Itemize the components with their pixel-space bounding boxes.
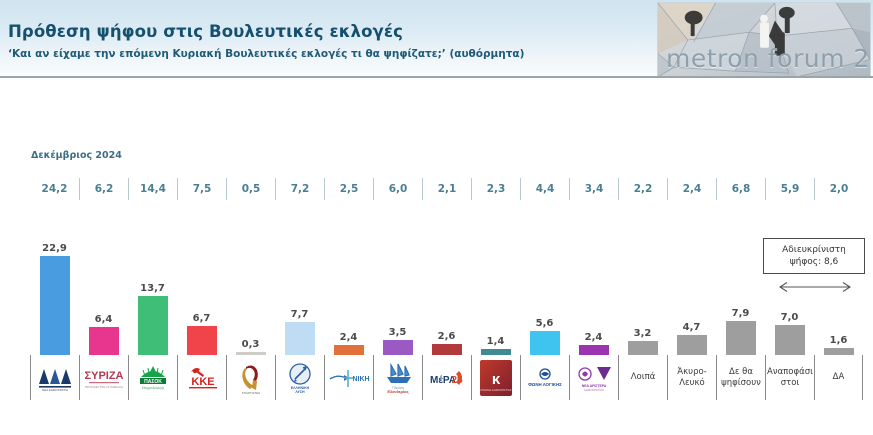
- bar-value-label: 5,6: [536, 318, 554, 329]
- bar-value-label: 2,6: [438, 331, 456, 342]
- previous-wave-value: 0,5: [226, 178, 275, 200]
- category-label: Άκυρο-Λευκό: [676, 367, 707, 388]
- svg-text:ΦΩΝΗ ΛΟΓΙΚΗΣ: ΦΩΝΗ ΛΟΓΙΚΗΣ: [528, 382, 562, 387]
- party-axis-cell: ΝΕΑ ΔΗΜΟΚΡΑΤΙΑ: [30, 355, 79, 400]
- previous-wave-value: 3,4: [569, 178, 618, 200]
- svg-text:ΣΠΑΡΤΙΑΤΕΣ: ΣΠΑΡΤΙΑΤΕΣ: [242, 391, 260, 395]
- svg-text:ΛΥΣΗ: ΛΥΣΗ: [295, 390, 305, 394]
- chart-bar: [89, 327, 119, 355]
- logo-geometric-pattern: [658, 3, 870, 77]
- party-axis-cell: Άκυρο-Λευκό: [667, 355, 716, 400]
- previous-wave-value: 6,0: [373, 178, 422, 200]
- chart-bar: [432, 344, 462, 355]
- svg-text:ΚΙΝΗΜΑ ΔΗΜΟΚΡΑΤΙΑΣ: ΚΙΝΗΜΑ ΔΗΜΟΚΡΑΤΙΑΣ: [481, 388, 512, 392]
- previous-wave-value: 6,2: [79, 178, 128, 200]
- bar-value-label: 7,0: [781, 312, 799, 323]
- party-axis-cell: ΚΚΕ: [177, 355, 226, 400]
- chart-bar: [138, 296, 168, 355]
- party-axis-cell: ΔΑ: [814, 355, 863, 400]
- previous-wave-value: 2,1: [422, 178, 471, 200]
- previous-wave-value: 24,2: [30, 178, 79, 200]
- bar-value-label: 1,4: [487, 336, 505, 347]
- chart-bar-column: 13,7: [128, 230, 177, 355]
- chart-bar-column: 4,7: [667, 230, 716, 355]
- callout-line2: ψήφος: 8,6: [790, 257, 839, 267]
- party-axis-cell: Λοιπά: [618, 355, 667, 400]
- chart-bar: [530, 331, 560, 355]
- chart-bar-column: 6,7: [177, 230, 226, 355]
- svg-text:ΠΑΣΟΚ: ΠΑΣΟΚ: [144, 379, 162, 385]
- bar-value-label: 4,7: [683, 322, 701, 333]
- party-logo-4: ΚΚΕ: [181, 358, 224, 398]
- bar-value-label: 13,7: [140, 283, 165, 294]
- party-axis-cell: ΠλεύσηΕλευθερίας: [373, 355, 422, 400]
- chart-bar: [40, 256, 70, 355]
- party-logo-12: ΝΕΑ ΑΡΙΣΤΕΡΑΔΗΜΟΚΡΑΤΙΚΗ: [573, 358, 616, 398]
- previous-wave-value: 5,9: [765, 178, 814, 200]
- previous-wave-values-row: 24,26,214,47,50,57,22,56,02,12,34,43,42,…: [30, 178, 863, 200]
- party-logo-6: ΕΛΛΗΝΙΚΗΛΥΣΗ: [279, 358, 322, 398]
- party-axis-row: ΝΕΑ ΔΗΜΟΚΡΑΤΙΑΣΥΡΙΖΑΠΡΟΟΔΕΥΤΙΚΗ ΣΥΜΜΑΧΙΑ…: [30, 355, 863, 400]
- bar-value-label: 22,9: [42, 243, 67, 254]
- party-logo-5: ΣΠΑΡΤΙΑΤΕΣ: [230, 358, 273, 398]
- previous-wave-value: 2,4: [667, 178, 716, 200]
- party-axis-cell: ΜέΡΑ25: [422, 355, 471, 400]
- bar-value-label: 2,4: [585, 332, 603, 343]
- party-logo-3: ΠΑΣΟΚΚίνημα Αλλαγής: [132, 358, 175, 398]
- bar-value-label: 7,7: [291, 309, 309, 320]
- previous-wave-value: 2,0: [814, 178, 863, 200]
- party-axis-cell: Αναποφάσιστοι: [765, 355, 814, 400]
- chart-bar-column: 2,4: [324, 230, 373, 355]
- party-axis-cell: ΦΩΝΗ ΛΟΓΙΚΗΣ: [520, 355, 569, 400]
- vote-intention-bar-chart: 22,96,413,76,70,37,72,43,52,61,45,62,43,…: [30, 230, 863, 355]
- chart-bar-column: 3,5: [373, 230, 422, 355]
- chart-bar: [383, 340, 413, 355]
- previous-wave-label: Δεκέμβριος 2024: [31, 150, 122, 161]
- previous-wave-value: 6,8: [716, 178, 765, 200]
- metron-forum-logo: metron forum 2.0: [657, 2, 871, 78]
- undeclared-vote-callout: Αδιευκρίνιστη ψήφος: 8,6: [763, 238, 865, 274]
- bar-value-label: 3,2: [634, 328, 652, 339]
- chart-bar-column: 3,2: [618, 230, 667, 355]
- chart-bar: [334, 345, 364, 355]
- svg-text:ΚΚΕ: ΚΚΕ: [191, 376, 214, 388]
- party-logo-9: ΜέΡΑ25: [426, 358, 469, 398]
- chart-bar-column: 2,6: [422, 230, 471, 355]
- page-title: Πρόθεση ψήφου στις Βουλευτικές εκλογές: [8, 22, 403, 41]
- party-logo-7: ΝΙΚΗ: [328, 358, 371, 398]
- page-header: Πρόθεση ψήφου στις Βουλευτικές εκλογές ‘…: [0, 0, 873, 78]
- chart-bar-column: 7,9: [716, 230, 765, 355]
- chart-bar: [628, 341, 658, 355]
- party-logo-11: ΦΩΝΗ ΛΟΓΙΚΗΣ: [524, 358, 567, 398]
- previous-wave-value: 2,5: [324, 178, 373, 200]
- party-logo-8: ΠλεύσηΕλευθερίας: [377, 358, 420, 398]
- bar-value-label: 3,5: [389, 327, 407, 338]
- bar-value-label: 0,3: [242, 339, 260, 350]
- party-axis-cell: ΣΥΡΙΖΑΠΡΟΟΔΕΥΤΙΚΗ ΣΥΜΜΑΧΙΑ: [79, 355, 128, 400]
- party-axis-cell: ΕΛΛΗΝΙΚΗΛΥΣΗ: [275, 355, 324, 400]
- previous-wave-value: 7,2: [275, 178, 324, 200]
- party-logo-2: ΣΥΡΙΖΑΠΡΟΟΔΕΥΤΙΚΗ ΣΥΜΜΑΧΙΑ: [83, 358, 126, 398]
- chart-bar-column: 2,4: [569, 230, 618, 355]
- chart-bar-column: 7,7: [275, 230, 324, 355]
- category-label: Αναποφάσιστοι: [766, 367, 814, 388]
- page-subtitle: ‘Και αν είχαμε την επόμενη Κυριακή Βουλε…: [8, 48, 524, 60]
- chart-bar: [775, 325, 805, 355]
- bar-value-label: 7,9: [732, 308, 750, 319]
- category-label: Λοιπά: [630, 372, 657, 383]
- bar-value-label: 6,7: [193, 313, 211, 324]
- party-axis-cell: ΣΠΑΡΤΙΑΤΕΣ: [226, 355, 275, 400]
- chart-bar: [824, 348, 854, 355]
- party-axis-cell: ΠΑΣΟΚΚίνημα Αλλαγής: [128, 355, 177, 400]
- previous-wave-value: 2,2: [618, 178, 667, 200]
- previous-wave-value: 4,4: [520, 178, 569, 200]
- chart-bar-column: 0,3: [226, 230, 275, 355]
- chart-bar-column: 5,6: [520, 230, 569, 355]
- undeclared-vote-text: Αδιευκρίνιστη ψήφος: 8,6: [782, 244, 846, 268]
- previous-wave-value: 2,3: [471, 178, 520, 200]
- chart-bar-column: 22,9: [30, 230, 79, 355]
- party-axis-cell: ΝΕΑ ΑΡΙΣΤΕΡΑΔΗΜΟΚΡΑΤΙΚΗ: [569, 355, 618, 400]
- chart-bar-column: 6,4: [79, 230, 128, 355]
- svg-text:ΠΡΟΟΔΕΥΤΙΚΗ ΣΥΜΜΑΧΙΑ: ΠΡΟΟΔΕΥΤΙΚΗ ΣΥΜΜΑΧΙΑ: [85, 385, 123, 389]
- svg-text:ΔΗΜΟΚΡΑΤΙΚΗ: ΔΗΜΟΚΡΑΤΙΚΗ: [584, 388, 604, 392]
- chart-bar: [677, 335, 707, 355]
- header-divider: [0, 76, 873, 78]
- svg-text:Κίνημα Αλλαγής: Κίνημα Αλλαγής: [142, 386, 165, 390]
- bar-value-label: 1,6: [830, 335, 848, 346]
- category-label: ΔΑ: [832, 372, 846, 383]
- chart-bar: [285, 322, 315, 355]
- previous-wave-value: 7,5: [177, 178, 226, 200]
- svg-text:ΣΥΡΙΖΑ: ΣΥΡΙΖΑ: [85, 370, 124, 382]
- svg-text:ΝΕΑ ΔΗΜΟΚΡΑΤΙΑ: ΝΕΑ ΔΗΜΟΚΡΑΤΙΑ: [42, 388, 68, 392]
- party-axis-cell: κΚΙΝΗΜΑ ΔΗΜΟΚΡΑΤΙΑΣ: [471, 355, 520, 400]
- category-label: Δε θαψηφίσουν: [720, 367, 762, 388]
- callout-line1: Αδιευκρίνιστη: [782, 245, 846, 255]
- chart-bar: [726, 321, 756, 355]
- chart-bar: [187, 326, 217, 355]
- party-axis-cell: ΝΙΚΗ: [324, 355, 373, 400]
- double-arrow-icon: [775, 281, 855, 293]
- previous-wave-value: 14,4: [128, 178, 177, 200]
- bar-value-label: 2,4: [340, 332, 358, 343]
- party-axis-cell: Δε θαψηφίσουν: [716, 355, 765, 400]
- bar-value-label: 6,4: [95, 314, 113, 325]
- svg-text:ΝΙΚΗ: ΝΙΚΗ: [352, 376, 369, 383]
- svg-text:Ελευθερίας: Ελευθερίας: [387, 389, 408, 394]
- chart-bar-column: 1,4: [471, 230, 520, 355]
- svg-text:κ: κ: [492, 371, 501, 388]
- chart-bar: [579, 345, 609, 355]
- party-logo-1: ΝΕΑ ΔΗΜΟΚΡΑΤΙΑ: [34, 358, 77, 398]
- party-logo-10: κΚΙΝΗΜΑ ΔΗΜΟΚΡΑΤΙΑΣ: [475, 358, 518, 398]
